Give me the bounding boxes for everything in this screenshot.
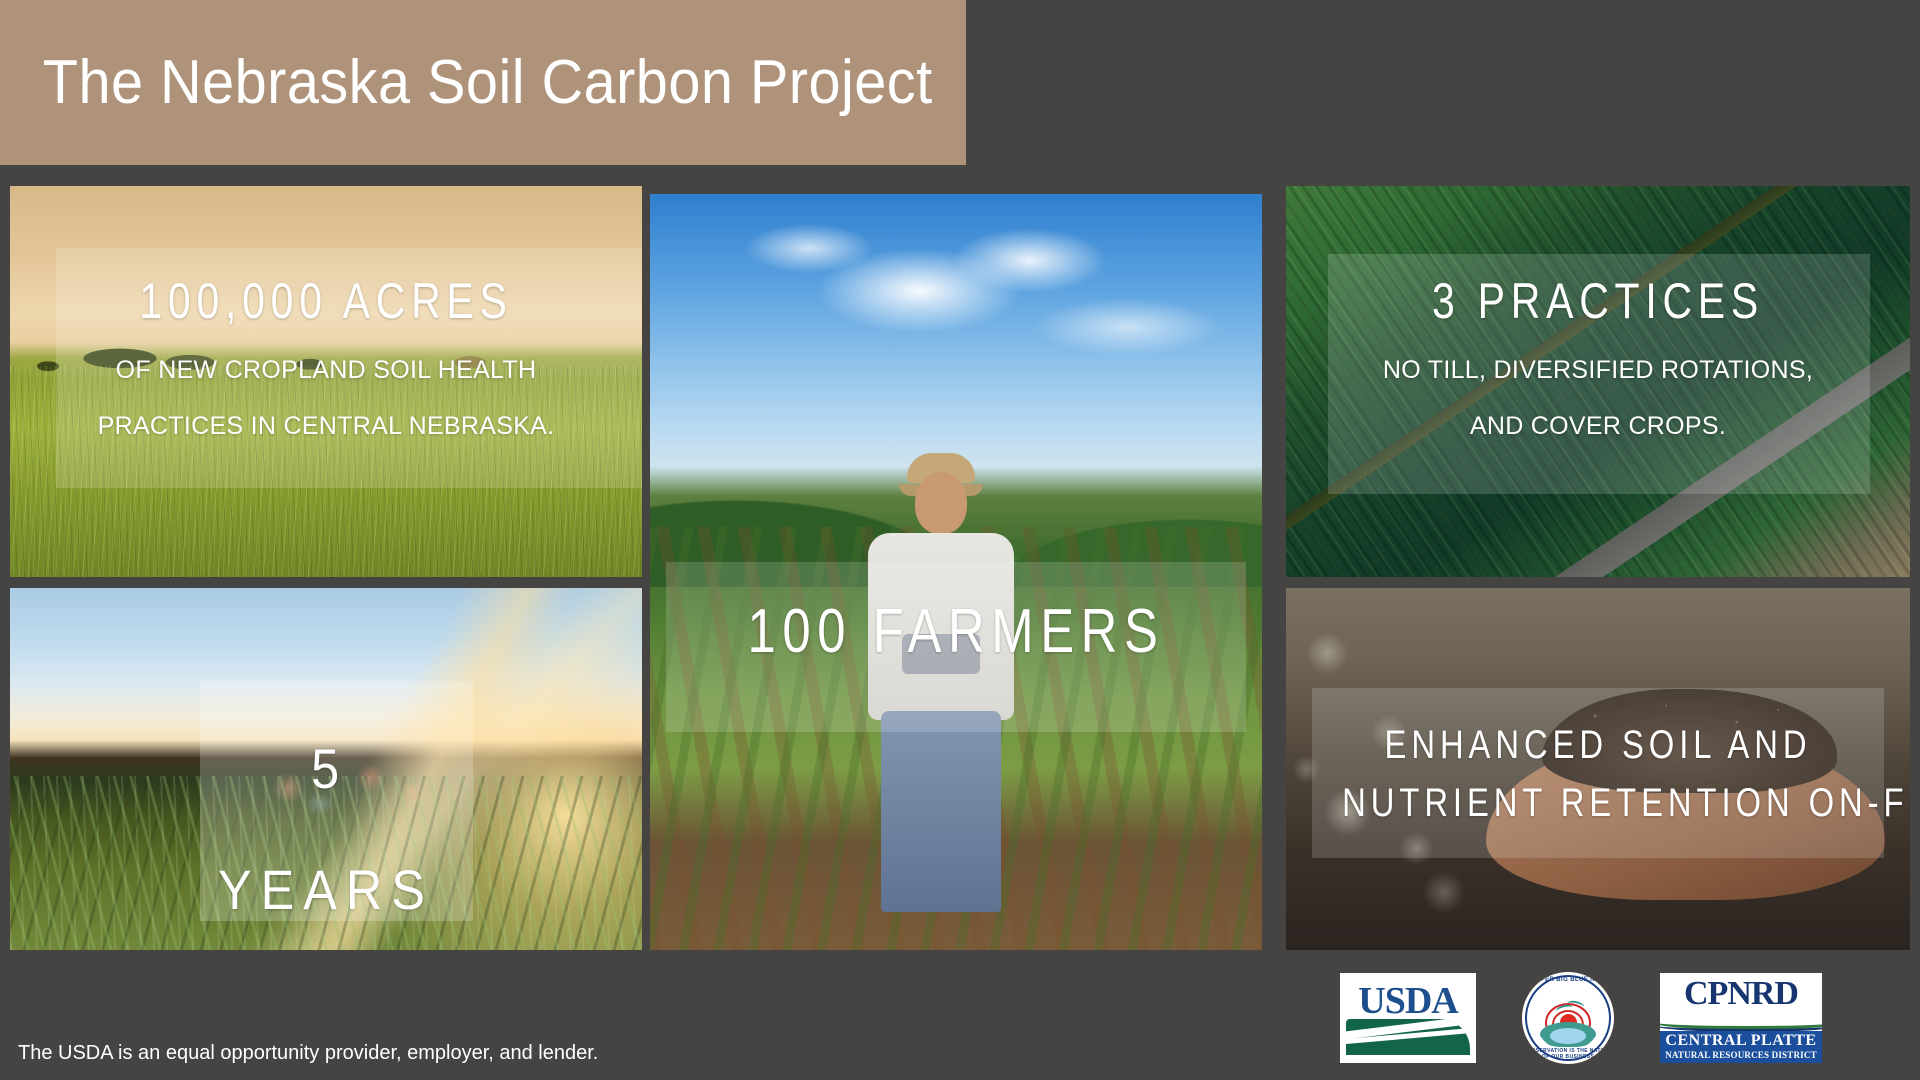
cpnrd-name-band: CENTRAL PLATTE NATURAL RESOURCES DISTRIC… (1660, 1031, 1822, 1063)
panel-years-headline-2: YEARS (42, 857, 611, 922)
usda-disclaimer: The USDA is an equal opportunity provide… (18, 1042, 598, 1065)
panel-soil-headline-line1: ENHANCED SOIL AND (1342, 716, 1854, 774)
panel-practices-subtext-line2: AND COVER CROPS. (1286, 412, 1910, 442)
head-decor (915, 472, 967, 534)
water-decor (1540, 1022, 1595, 1047)
panel-farmers-headline: 100 FARMERS (705, 596, 1207, 667)
panel-practices-headline: 3 PRACTICES (1342, 272, 1854, 330)
panel-acres-headline: 100,000 ACRES (67, 272, 585, 330)
cpnrd-line1: CENTRAL PLATTE (1665, 1033, 1816, 1049)
logo-row: USDA UPPER BIG BLUE NRD CONSERVATION IS … (1340, 972, 1920, 1064)
cpnrd-logo: CPNRD CENTRAL PLATTE NATURAL RESOURCES D… (1660, 973, 1822, 1063)
jeans-decor (881, 711, 1001, 913)
panel-acres: 100,000 ACRES OF NEW CROPLAND SOIL HEALT… (10, 186, 642, 577)
panel-practices-caption: 3 PRACTICES NO TILL, DIVERSIFIED ROTATIO… (1286, 272, 1910, 441)
panel-farmers-caption: 100 FARMERS (650, 596, 1262, 667)
seal-inner (1535, 985, 1601, 1051)
panel-years: 5 YEARS (10, 588, 642, 950)
slide-canvas: The Nebraska Soil Carbon Project 100,000… (0, 0, 1920, 1080)
panel-years-caption: 5 YEARS (10, 736, 642, 922)
page-title: The Nebraska Soil Carbon Project (0, 47, 933, 118)
panel-farmers: 100 FARMERS (650, 194, 1262, 950)
usda-wordmark: USDA (1340, 979, 1476, 1023)
panel-acres-subtext-line1: OF NEW CROPLAND SOIL HEALTH (10, 356, 642, 386)
title-bar: The Nebraska Soil Carbon Project (0, 0, 966, 165)
panel-practices: 3 PRACTICES NO TILL, DIVERSIFIED ROTATIO… (1286, 186, 1910, 577)
upper-big-blue-nrd-logo: UPPER BIG BLUE NRD CONSERVATION IS THE N… (1522, 972, 1614, 1064)
panel-acres-caption: 100,000 ACRES OF NEW CROPLAND SOIL HEALT… (10, 272, 642, 441)
panel-years-headline: 5 (42, 736, 611, 801)
panel-soil: ENHANCED SOIL AND NUTRIENT RETENTION ON-… (1286, 588, 1910, 950)
panel-soil-headline-line2: NUTRIENT RETENTION ON-FIELD (1342, 774, 1854, 832)
nrd-seal-text-bottom: CONSERVATION IS THE NATURE OF OUR BUSINE… (1522, 1048, 1614, 1060)
usda-logo: USDA (1340, 973, 1476, 1063)
usda-field-graphic (1346, 1019, 1470, 1055)
panel-soil-caption: ENHANCED SOIL AND NUTRIENT RETENTION ON-… (1286, 716, 1910, 832)
cpnrd-line2: NATURAL RESOURCES DISTRICT (1665, 1049, 1817, 1062)
cpnrd-abbreviation: CPNRD (1660, 975, 1822, 1013)
panel-acres-subtext-line2: PRACTICES IN CENTRAL NEBRASKA. (10, 412, 642, 442)
panel-practices-subtext-line1: NO TILL, DIVERSIFIED ROTATIONS, (1286, 356, 1910, 386)
nrd-seal-text-top: UPPER BIG BLUE NRD (1522, 977, 1614, 983)
cpnrd-swoosh-blue-decor (1660, 1018, 1822, 1032)
